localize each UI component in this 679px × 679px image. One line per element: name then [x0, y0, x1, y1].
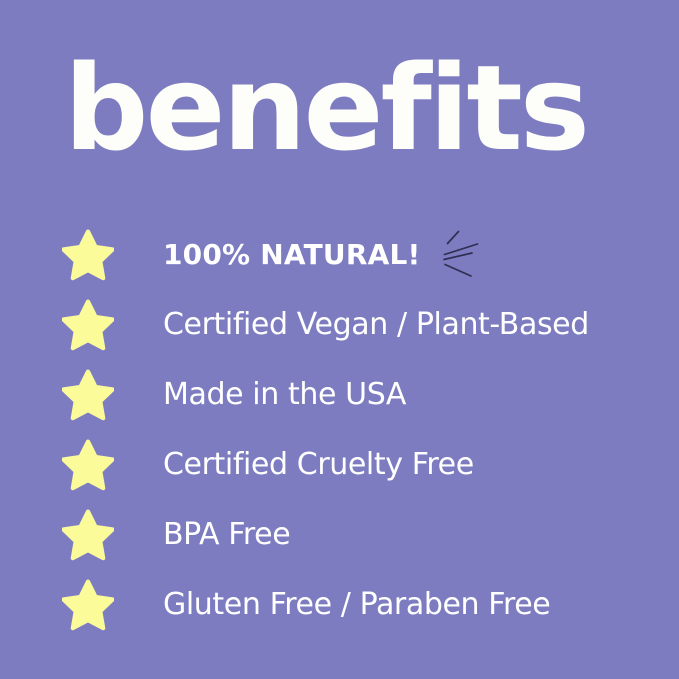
- list-item: Gluten Free / Paraben Free: [0, 570, 679, 640]
- benefits-poster: benefits 100% NATURAL!: [0, 0, 679, 679]
- star-icon: [62, 299, 114, 351]
- star-icon: [62, 229, 114, 281]
- list-item: Certified Vegan / Plant-Based: [0, 290, 679, 360]
- star-icon: [62, 369, 114, 421]
- list-item: BPA Free: [0, 500, 679, 570]
- list-item: Certified Cruelty Free: [0, 430, 679, 500]
- benefits-list: 100% NATURAL! Certified Vegan: [0, 220, 679, 640]
- list-item-label: 100% NATURAL!: [163, 238, 420, 272]
- star-icon: [62, 579, 114, 631]
- list-item-label: BPA Free: [163, 518, 290, 552]
- list-item-label: Gluten Free / Paraben Free: [163, 588, 550, 622]
- page-title: benefits: [64, 46, 624, 171]
- list-item-label: Certified Cruelty Free: [163, 448, 474, 482]
- list-item-label: Certified Vegan / Plant-Based: [163, 308, 589, 342]
- list-item: 100% NATURAL!: [0, 220, 679, 290]
- star-icon: [62, 509, 114, 561]
- list-item: Made in the USA: [0, 360, 679, 430]
- emphasis-burst-icon: [441, 229, 491, 281]
- star-icon: [62, 439, 114, 491]
- list-item-label: Made in the USA: [163, 378, 406, 412]
